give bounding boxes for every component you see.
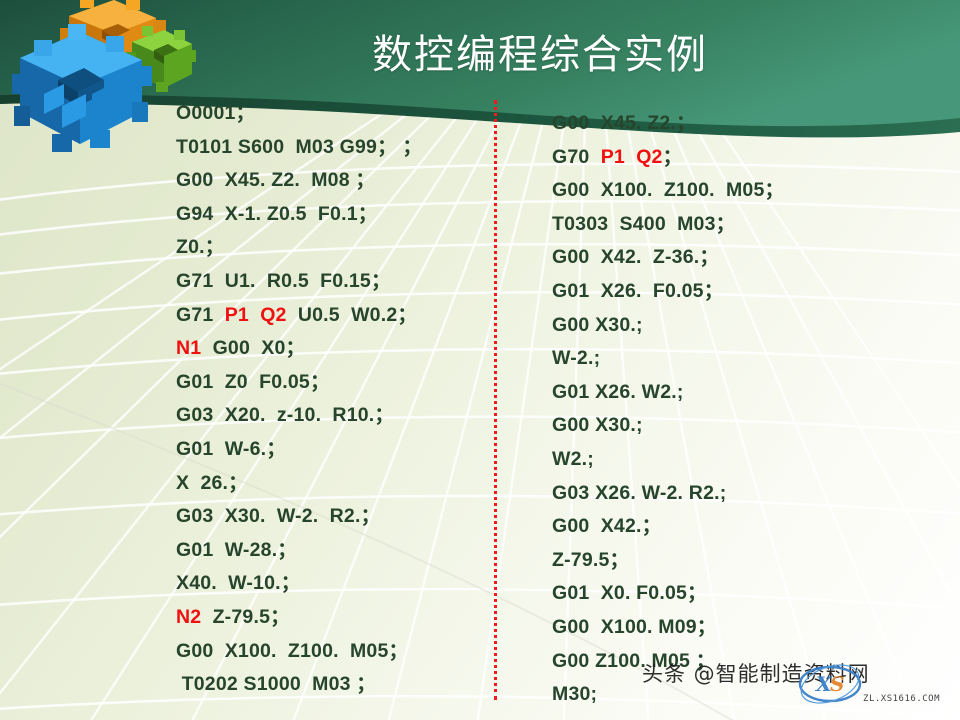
gcode-line: G71 P1 Q2 U0.5 W0.2； — [176, 299, 486, 333]
gcode-line: G00 X30.; — [552, 409, 882, 443]
gcode-line: Z-79.5； — [552, 544, 882, 578]
gcode-segment: G00 X0； — [201, 337, 305, 359]
gcode-line: X40. W-10.； — [176, 567, 486, 601]
gcode-line: T0202 S1000 M03 ； — [176, 668, 486, 702]
gcode-line: G03 X26. W-2. R2.; — [552, 477, 882, 511]
gcode-line: G01 X26. W2.; — [552, 376, 882, 410]
gcode-highlight: P1 Q2 — [225, 304, 287, 326]
gcode-line: N1 G00 X0； — [176, 332, 486, 366]
gcode-line: G03 X20. z-10. R10.； — [176, 399, 486, 433]
gcode-line: G00 X30.; — [552, 309, 882, 343]
gcode-line: W-2.; — [552, 342, 882, 376]
gcode-highlight: N1 — [176, 337, 201, 359]
gcode-line: G00 X45. Z2. M08 ； — [176, 164, 486, 198]
gcode-segment: ； — [663, 146, 683, 168]
gcode-segment: Z-79.5； — [201, 606, 290, 628]
gcode-line: % — [552, 712, 882, 720]
gcode-line: G00 X100. Z100. M05； — [552, 174, 882, 208]
gcode-line: G00 X42.； — [552, 510, 882, 544]
gcode-line: G01 W-28.； — [176, 534, 486, 568]
gcode-line: G00 X42. Z-36.； — [552, 241, 882, 275]
gcode-line: G03 X30. W-2. R2.； — [176, 500, 486, 534]
gcode-line: M30; — [552, 678, 882, 712]
voxel-gears-icon — [6, 0, 196, 159]
column-divider — [494, 100, 497, 700]
gcode-highlight: N2 — [176, 606, 201, 628]
gcode-line: X 26.； — [176, 467, 486, 501]
gcode-line: G00 X45. Z2.； — [552, 107, 882, 141]
gcode-line: G00 X100. M09； — [552, 611, 882, 645]
gcode-line: N2 Z-79.5； — [176, 601, 486, 635]
gcode-line: G00 X100. Z100. M05； — [176, 635, 486, 669]
gcode-highlight: P1 Q2 — [601, 146, 663, 168]
gcode-segment: U0.5 W0.2； — [287, 304, 417, 326]
gcode-line: G70 P1 Q2； — [552, 141, 882, 175]
gcode-line: G01 W-6.； — [176, 433, 486, 467]
gcode-line: O0001； — [176, 97, 486, 131]
gcode-segment: G71 — [176, 304, 225, 326]
gcode-left-column: O0001；T0101 S600 M03 G99； ；G00 X45. Z2. … — [176, 97, 486, 702]
gcode-line: G71 U1. R0.5 F0.15； — [176, 265, 486, 299]
gcode-right-column: G00 X45. Z2.；G70 P1 Q2；G00 X100. Z100. M… — [552, 107, 882, 720]
gcode-line: T0101 S600 M03 G99； ； — [176, 131, 486, 165]
gcode-line: T0303 S400 M03； — [552, 208, 882, 242]
gcode-line: G94 X-1. Z0.5 F0.1； — [176, 198, 486, 232]
gcode-line: Z0.； — [176, 231, 486, 265]
gcode-line: W2.; — [552, 443, 882, 477]
gcode-line: G01 X0. F0.05； — [552, 577, 882, 611]
gcode-line: G01 Z0 F0.05； — [176, 366, 486, 400]
presentation-slide: 数控编程综合实例 — [0, 0, 960, 720]
gcode-line: G01 X26. F0.05； — [552, 275, 882, 309]
gcode-line: G00 Z100. M05 ； — [552, 645, 882, 679]
gcode-segment: G70 — [552, 146, 601, 168]
